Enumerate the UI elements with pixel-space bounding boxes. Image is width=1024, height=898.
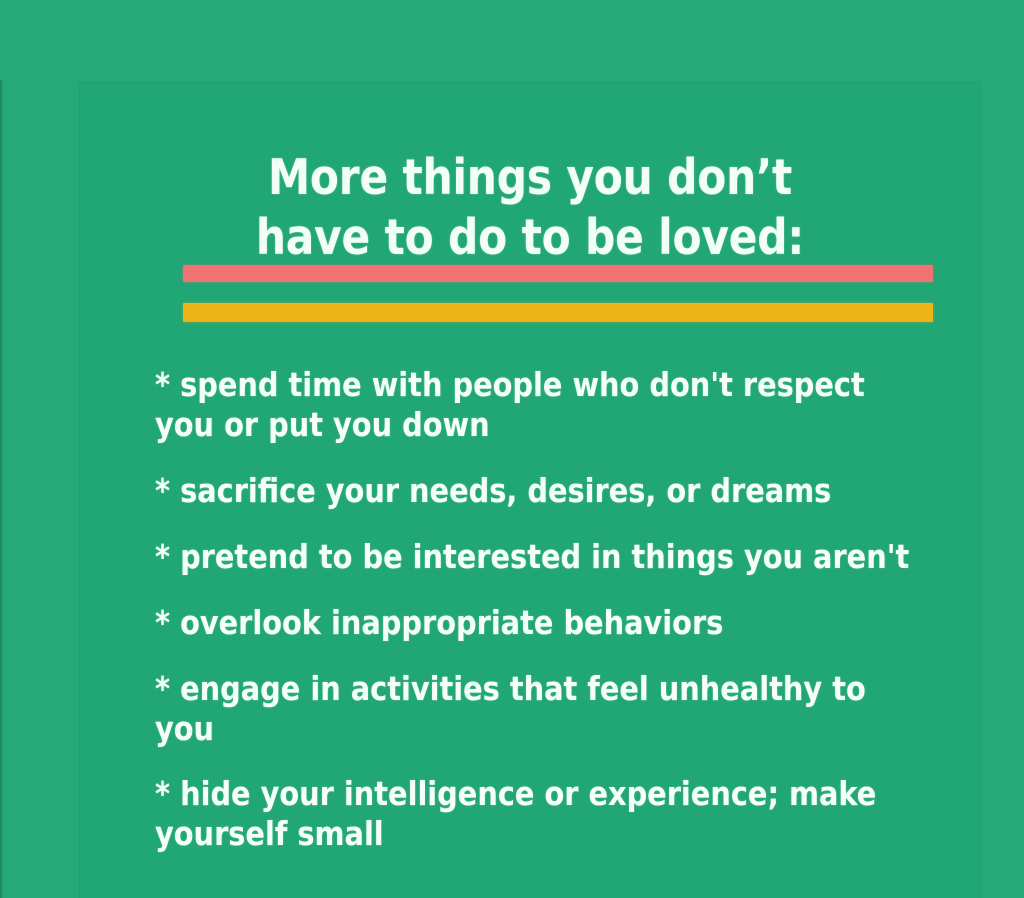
poster-list: * spend time with people who don't respe…: [155, 365, 955, 854]
list-item: * overlook inappropriate behaviors: [155, 603, 931, 643]
divider-group: [183, 265, 933, 322]
list-item: * pretend to be interested in things you…: [155, 537, 931, 577]
page-title: More things you don’t have to do to be l…: [98, 148, 962, 268]
list-item: * sacrifice your needs, desires, or drea…: [155, 471, 931, 511]
left-edge-shadow: [0, 80, 3, 898]
list-item: * hide your intelligence or experience; …: [155, 774, 931, 854]
quote-card: More things you don’t have to do to be l…: [80, 83, 980, 898]
list-item: * engage in activities that feel unhealt…: [155, 669, 931, 749]
divider-bar-yellow: [183, 303, 933, 322]
poster-canvas: More things you don’t have to do to be l…: [0, 0, 1024, 898]
divider-spacer: [183, 282, 933, 303]
divider-bar-pink: [183, 265, 933, 282]
list-item: * spend time with people who don't respe…: [155, 365, 931, 445]
